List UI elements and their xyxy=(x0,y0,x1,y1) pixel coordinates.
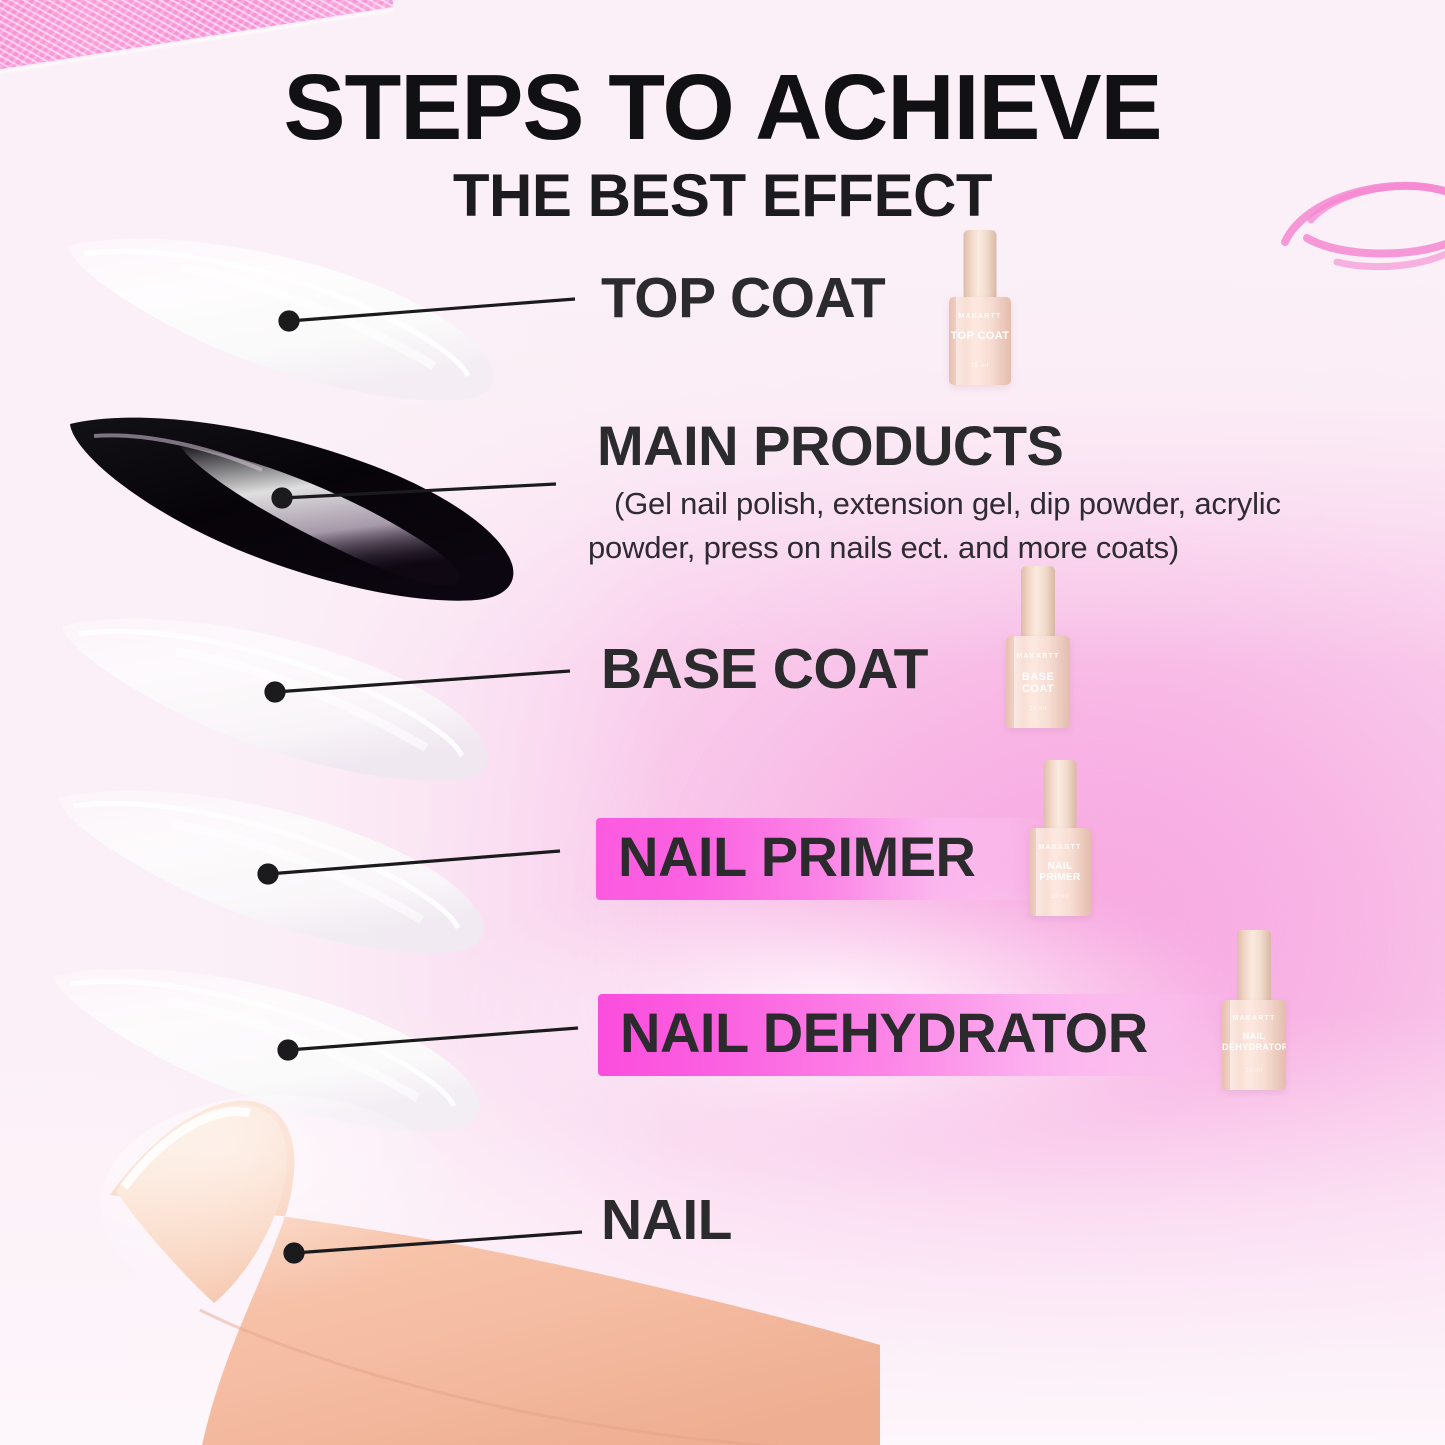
fingertip-photo xyxy=(50,1095,880,1445)
layer-label-top-coat: TOP COAT xyxy=(601,270,885,327)
main-products-description-line2: powder, press on nails ect. and more coa… xyxy=(588,526,1179,570)
bottle-brand-text: MAKARTT xyxy=(949,313,1011,320)
bottle-brand-text: MAKARTT xyxy=(1222,1015,1286,1022)
bottle-product-name-line1: NAIL xyxy=(1222,1031,1286,1041)
bottle-volume-text: 15 ml xyxy=(949,363,1011,369)
layer-label-base-coat: BASE COAT xyxy=(601,641,928,698)
bottle-volume-text: 15 ml xyxy=(1222,1068,1286,1074)
infographic-canvas: STEPS TO ACHIEVE THE BEST EFFECT TOP COA… xyxy=(0,0,1445,1445)
layer-label-nail-dehydrator: NAIL DEHYDRATOR xyxy=(620,1005,1148,1061)
product-bottle-nail-dehydrator: MAKARTT NAIL DEHYDRATOR 15 ml xyxy=(1212,930,1296,1092)
bottle-brand-text: MAKARTT xyxy=(1029,844,1091,851)
bottle-product-name: BASE COAT xyxy=(1006,671,1070,696)
page-title-line2: THE BEST EFFECT xyxy=(0,166,1445,226)
bottle-product-name: NAIL PRIMER xyxy=(1029,861,1091,883)
bottle-volume-text: 15 ml xyxy=(1029,894,1091,900)
main-products-description-line1: (Gel nail polish, extension gel, dip pow… xyxy=(614,482,1281,526)
layer-highlight-nail-primer: NAIL PRIMER xyxy=(596,818,1042,900)
layer-label-main-products: MAIN PRODUCTS xyxy=(597,418,1063,474)
product-bottle-top-coat: MAKARTT TOP COAT 15 ml xyxy=(940,230,1020,385)
bottle-body: MAKARTT NAIL DEHYDRATOR 15 ml xyxy=(1222,1000,1286,1090)
bottle-product-name-line2: DEHYDRATOR xyxy=(1222,1042,1286,1052)
page-title-line1: STEPS TO ACHIEVE xyxy=(0,61,1445,154)
bottle-body: MAKARTT BASE COAT 15 ml xyxy=(1006,636,1070,728)
bottle-brand-text: MAKARTT xyxy=(1006,653,1070,660)
product-bottle-base-coat: MAKARTT BASE COAT 15 ml xyxy=(996,566,1080,731)
bottle-body: MAKARTT TOP COAT 15 ml xyxy=(949,297,1011,385)
layer-label-nail-primer: NAIL PRIMER xyxy=(618,829,976,885)
layer-highlight-nail-dehydrator: NAIL DEHYDRATOR xyxy=(598,994,1234,1076)
product-bottle-nail-primer: MAKARTT NAIL PRIMER 15 ml xyxy=(1020,760,1100,918)
nail-tip-main-products xyxy=(62,408,542,638)
layer-label-nail: NAIL xyxy=(601,1192,732,1249)
bottle-volume-text: 15 ml xyxy=(1006,706,1070,712)
bottle-body: MAKARTT NAIL PRIMER 15 ml xyxy=(1029,828,1091,916)
bottle-product-name: TOP COAT xyxy=(949,330,1011,342)
